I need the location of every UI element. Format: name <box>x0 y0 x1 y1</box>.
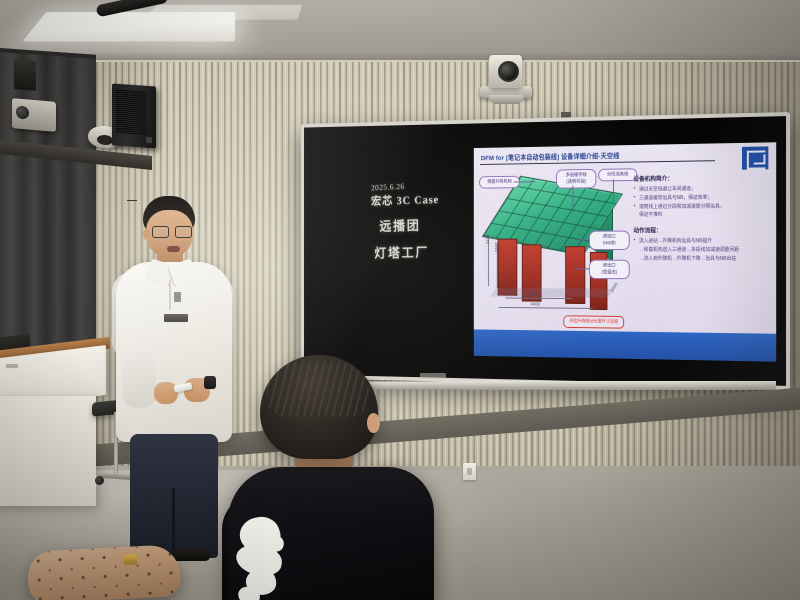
speaker-grille <box>116 89 146 135</box>
bullet-continuation: →移载机构送入三通道→多段线加减速调整间距 <box>633 246 769 255</box>
dimension-label: 3100 <box>485 234 489 244</box>
bullet-continuation: →流入到升降机→升降机下降→治具与NB出站 <box>633 254 769 263</box>
audience-hair-strands <box>266 361 370 417</box>
callout-leader <box>613 179 614 204</box>
bullet-item: 滚筒线上通过分段和加减速度分隔治具， <box>633 202 769 212</box>
podium-label <box>6 364 18 368</box>
wall-speaker <box>112 83 156 148</box>
company-logo-icon <box>742 146 768 169</box>
wall-outlet <box>463 463 476 480</box>
classroom-photo: 2025.6.26 宏芯 3C Case 远播团 灯塔工厂 DFM for [笔… <box>0 0 800 600</box>
presentation-slide: DFM for [笔记本自动包装线] 设备详细介绍-天空线 3100 <box>474 142 776 361</box>
callout-leader <box>572 186 573 207</box>
slide-text-column: 设备机构简介： 通过天空线避让车间通道； 三通道缓存治具与NB，保证效率； 滚筒… <box>633 172 769 263</box>
cad-floor-plane <box>491 288 614 297</box>
bag-hardware-icon <box>123 554 138 565</box>
audience-ear <box>367 413 380 433</box>
dimension-label: 2100 <box>494 242 498 252</box>
ceiling-light-panel <box>22 12 235 41</box>
presenter-arm-left <box>122 346 156 408</box>
presenter-ear <box>143 229 150 240</box>
handbag <box>27 544 182 600</box>
bag-monogram-pattern <box>27 544 182 600</box>
dimension-label: 2000 <box>610 282 619 293</box>
presenter-shirt-placket <box>169 280 171 310</box>
dim-line <box>499 307 593 309</box>
section-heading: 设备机构简介： <box>633 172 769 183</box>
speaker-indicator <box>146 137 152 143</box>
podium-lower <box>0 396 96 506</box>
shelf-dark-box <box>14 59 36 91</box>
ptz-camera-arm <box>489 95 523 104</box>
callout-box: 分段流离线 <box>598 168 637 181</box>
shirt-logo-icon <box>174 292 181 302</box>
slide-bottom-band <box>474 329 776 361</box>
projector <box>12 98 56 132</box>
glasses-bridge <box>127 200 137 201</box>
ptz-camera-lens-icon <box>498 61 519 82</box>
slide-title: DFM for [笔记本自动包装线] 设备详细介绍-天空线 <box>481 150 620 162</box>
red-annotation-note: 评估升降部分长度尺寸压缩 <box>563 316 624 329</box>
glasses-icon <box>152 226 192 236</box>
tshirt-graphic-print <box>236 513 302 600</box>
bullet-item: 流入进站→升降机构治具与NB提升 <box>633 237 769 246</box>
interactive-display[interactable]: 2025.6.26 宏芯 3C Case 远播团 灯塔工厂 DFM for [笔… <box>301 112 790 390</box>
display-screen[interactable]: 2025.6.26 宏芯 3C Case 远播团 灯塔工厂 DFM for [笔… <box>304 116 786 386</box>
section-heading: 动作流程： <box>633 225 769 234</box>
dimension-label: 2800 <box>529 292 539 297</box>
chair-caster <box>95 476 104 485</box>
audience-member <box>200 355 440 600</box>
presenter-name-badge <box>164 314 188 322</box>
callout-box: 多层缓存线 (透明可视) <box>556 169 596 189</box>
callout-leader <box>574 268 589 269</box>
callout-leader <box>574 239 589 240</box>
callout-box: 进出口 (NB进) <box>589 231 630 250</box>
callout-box: 进出口 (空盘出) <box>589 260 630 279</box>
dimension-label: 4400 <box>531 302 541 307</box>
projector-lens-icon <box>16 105 29 119</box>
